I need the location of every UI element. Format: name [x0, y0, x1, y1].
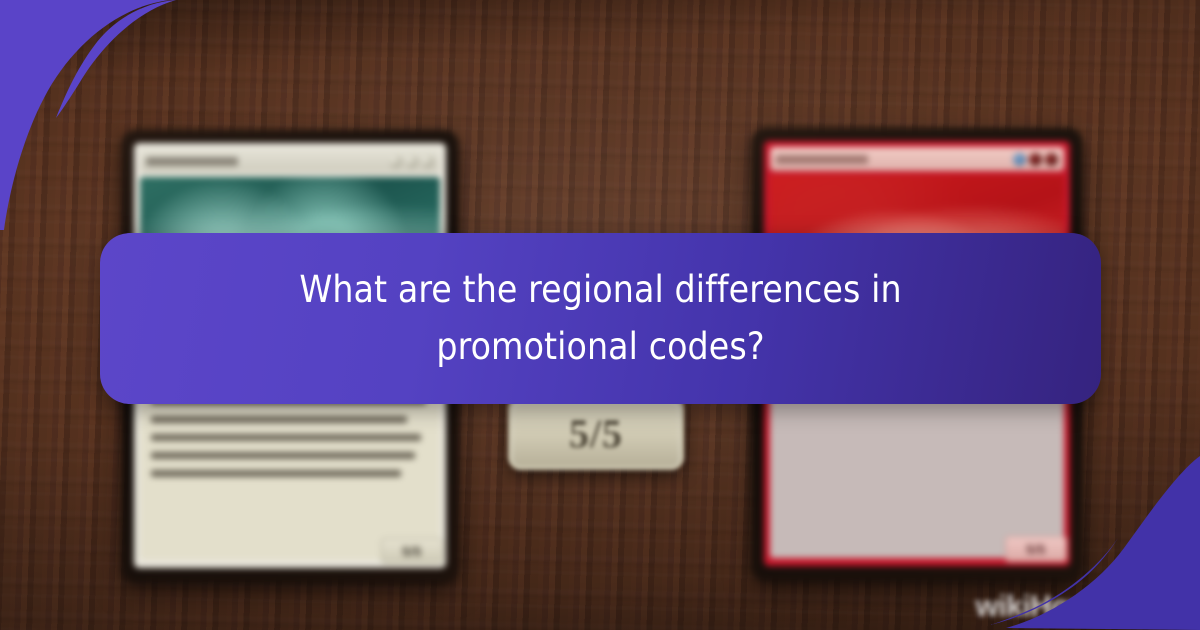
mana-symbol-icon [1013, 153, 1026, 166]
rules-text-line [151, 416, 407, 423]
card-title-bar [140, 149, 440, 173]
watermark-logo: wikiHow [975, 590, 1092, 624]
mana-cost [389, 155, 434, 168]
mana-symbol-icon [389, 155, 402, 168]
card-title-bar [770, 147, 1064, 171]
screenshot-stage: 5/5 5/5 5/5 wikiHow [0, 0, 1200, 630]
rules-text-line [151, 470, 401, 477]
mana-symbol-icon [405, 155, 418, 168]
card-title-text [776, 155, 868, 164]
rules-text-line [151, 434, 421, 441]
mana-cost [1013, 153, 1058, 166]
power-toughness-box: 5/5 [381, 538, 443, 564]
mana-symbol-icon [421, 155, 434, 168]
mana-symbol-icon [1045, 153, 1058, 166]
counter-token-label: 5/5 [569, 410, 623, 457]
power-toughness-box: 5/5 [1005, 536, 1067, 562]
question-text: What are the regional differences in pro… [251, 262, 951, 374]
rules-text-line [151, 452, 415, 459]
mana-symbol-icon [1029, 153, 1042, 166]
card-title-text [146, 157, 238, 166]
counter-token[interactable]: 5/5 [508, 396, 684, 470]
question-banner: What are the regional differences in pro… [100, 233, 1101, 404]
